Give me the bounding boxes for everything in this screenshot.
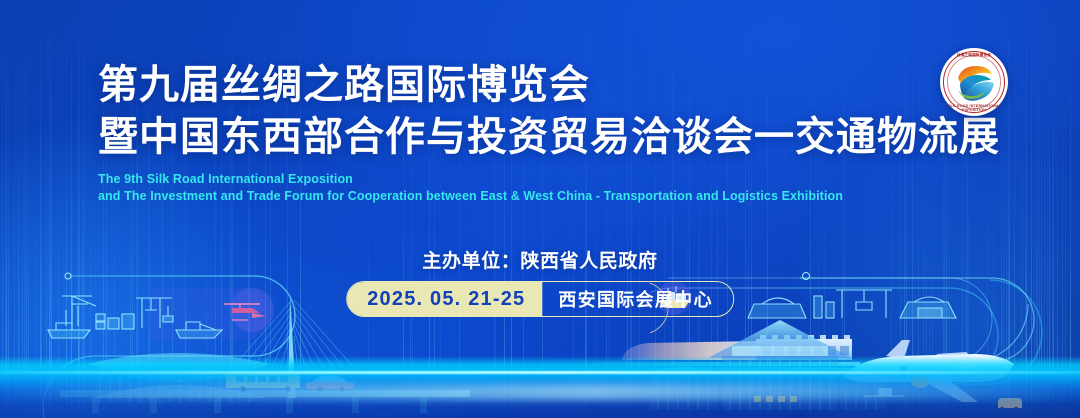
expo-banner: 第九届丝绸之路国际博览会 暨中国东西部合作与投资贸易洽谈会一交通物流展 The … [0,0,1080,418]
expo-logo: 丝绸之路国际博览会 SILK ROAD INTERNATIONAL EXPOSI… [940,48,1008,116]
subtitle-line-1: The 9th Silk Road International Expositi… [98,171,1008,188]
title-line-1: 第九届丝绸之路国际博览会 [98,60,1008,110]
subtitle-line-2: and The Investment and Trade Forum for C… [98,188,1008,205]
event-date: 2025. 05. 21-25 [347,282,542,316]
logo-ring-text-bottom: SILK ROAD INTERNATIONAL EXPOSITION [940,104,1008,112]
organizer-text: 主办单位：陕西省人民政府 [0,246,1080,273]
rainbow-swirl-icon [952,60,996,104]
title-line-2: 暨中国东西部合作与投资贸易洽谈会一交通物流展 [98,112,1008,162]
subtitle-block: The 9th Silk Road International Expositi… [98,171,1008,205]
date-venue-pill: 2025. 05. 21-25 西安国际会展中心 [346,281,734,317]
logo-ring-text-top: 丝绸之路国际博览会 [940,53,1008,58]
ground-haze [0,384,1080,400]
headline-block: 第九届丝绸之路国际博览会 暨中国东西部合作与投资贸易洽谈会一交通物流展 The … [98,60,1008,205]
ground-horizon-line [0,371,1080,374]
event-venue: 西安国际会展中心 [542,282,732,316]
